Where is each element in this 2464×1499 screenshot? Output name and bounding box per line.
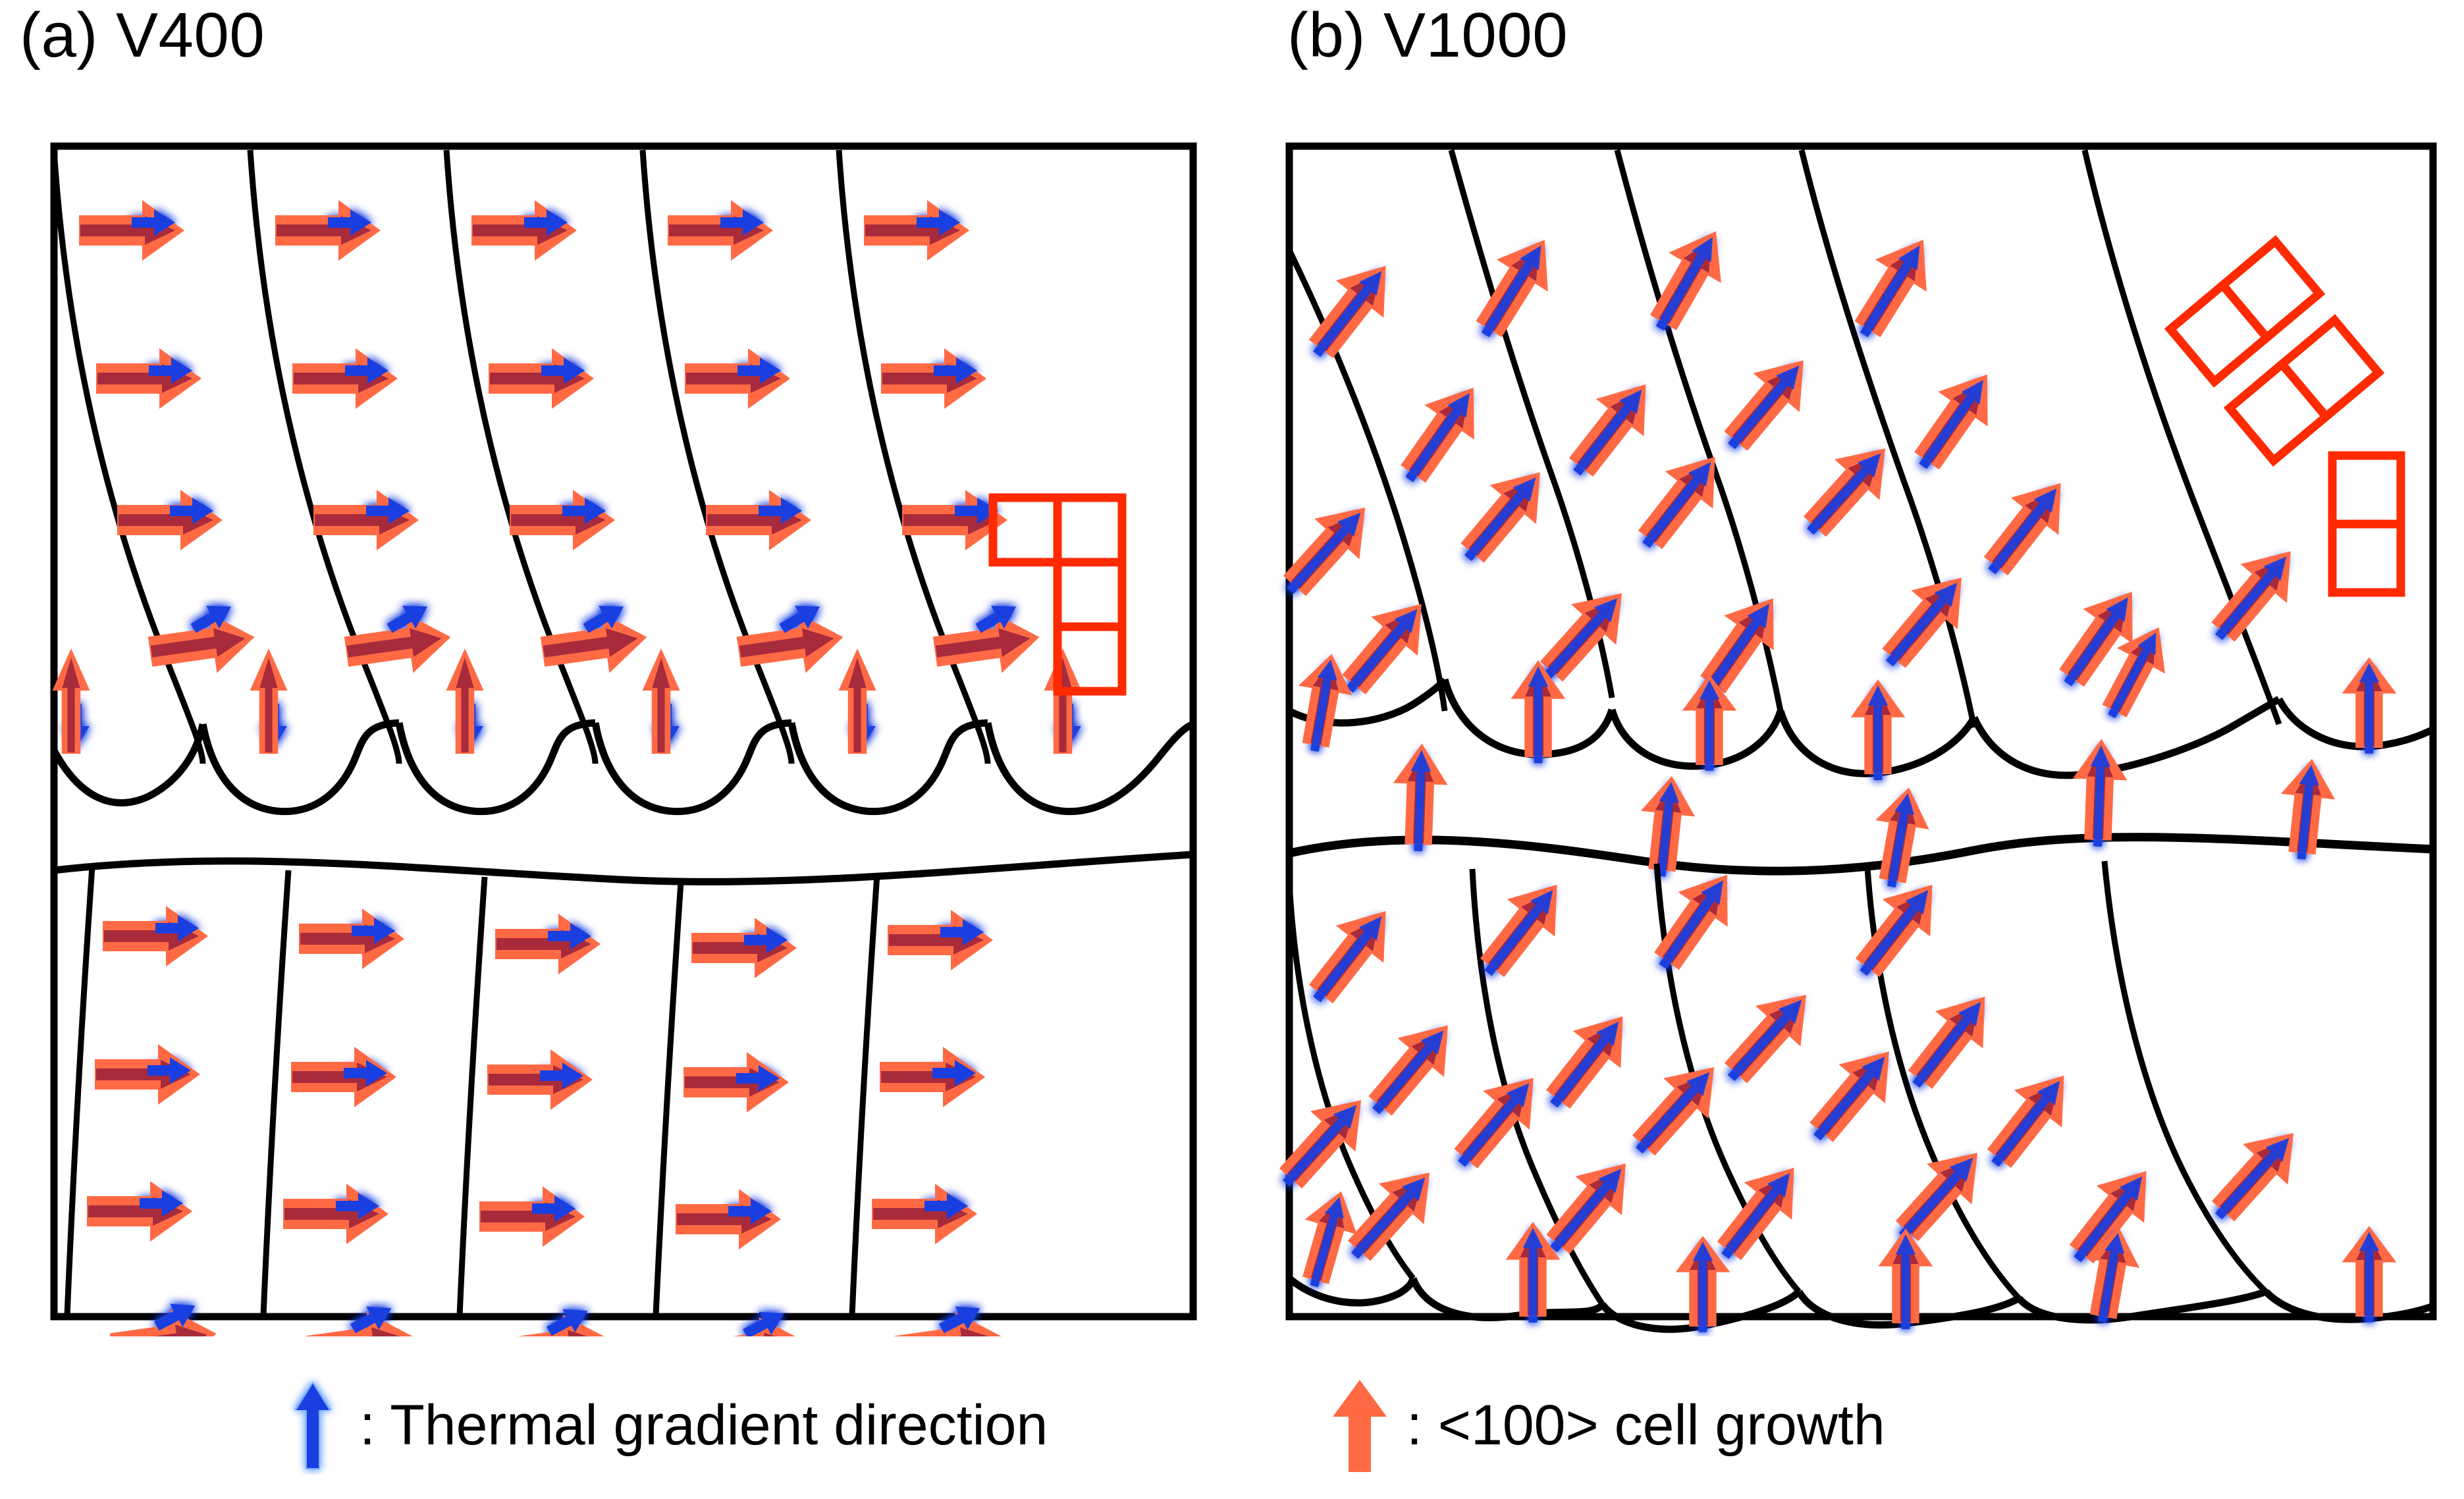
legend-cell-growth-label: : <100> cell growth [1406, 1397, 1885, 1454]
blue-up-arrow-icon [283, 1376, 342, 1475]
legend-item-cell-growth: : <100> cell growth [1330, 1376, 1885, 1475]
orange-up-arrow-icon [1330, 1376, 1389, 1475]
legend-item-thermal-gradient: : Thermal gradient direction [283, 1376, 1048, 1475]
legend-thermal-gradient-label: : Thermal gradient direction [360, 1397, 1048, 1454]
panel-b-label: (b) V1000 [1287, 4, 1568, 67]
figure-root: (a) V400 (b) V1000 [0, 0, 2464, 1499]
panel-a-label: (a) V400 [20, 4, 265, 67]
panel-b-diagram [1275, 132, 2453, 1336]
panel-a-diagram [40, 132, 1218, 1336]
panel-a-frame [54, 146, 1193, 1317]
